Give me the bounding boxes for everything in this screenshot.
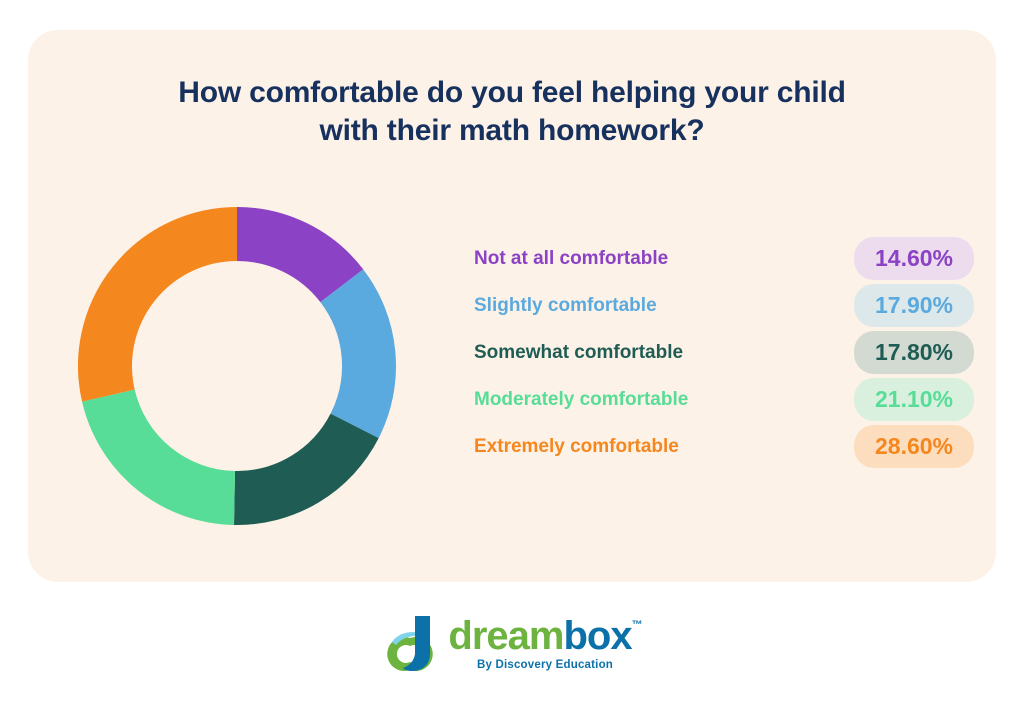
title-line-1: How comfortable do you feel helping your… — [178, 76, 846, 109]
legend-label: Extremely comfortable — [474, 436, 679, 458]
legend-value-badge: 17.80% — [854, 331, 974, 374]
logo-tagline: By Discovery Education — [477, 659, 613, 671]
dreambox-d-mark-icon — [382, 612, 442, 674]
page-title: How comfortable do you feel helping your… — [28, 74, 996, 151]
donut-segment[interactable] — [105, 234, 237, 396]
legend-label: Not at all comfortable — [474, 248, 668, 270]
title-line-2: with their math homework? — [319, 114, 704, 147]
legend-item-not-at-all-comfortable[interactable]: Not at all comfortable 14.60% — [474, 235, 974, 282]
legend-item-somewhat-comfortable[interactable]: Somewhat comfortable 17.80% — [474, 329, 974, 376]
legend-value-badge: 17.90% — [854, 284, 974, 327]
legend-item-extremely-comfortable[interactable]: Extremely comfortable 28.60% — [474, 423, 974, 470]
donut-segment[interactable] — [108, 396, 234, 498]
legend-value-badge: 14.60% — [854, 237, 974, 280]
legend: Not at all comfortable 14.60% Slightly c… — [474, 235, 974, 470]
donut-chart-svg — [78, 207, 396, 525]
legend-value-badge: 28.60% — [854, 425, 974, 468]
chart-card: How comfortable do you feel helping your… — [28, 30, 996, 582]
legend-value-badge: 21.10% — [854, 378, 974, 421]
logo-word-box: box — [563, 616, 631, 656]
legend-label: Somewhat comfortable — [474, 342, 683, 364]
logo-word-dream: dream — [448, 616, 563, 656]
logo-word: dreambox™ — [448, 616, 641, 656]
donut-chart — [78, 207, 396, 525]
logo-trademark-icon: ™ — [632, 620, 642, 631]
legend-label: Moderately comfortable — [474, 389, 688, 411]
dreambox-wordmark: dreambox™ By Discovery Education — [448, 616, 641, 671]
donut-segment[interactable] — [235, 426, 355, 498]
donut-segment[interactable] — [237, 234, 342, 286]
footer-logo: dreambox™ By Discovery Education — [0, 612, 1024, 674]
legend-label: Slightly comfortable — [474, 295, 657, 317]
dreambox-logo: dreambox™ By Discovery Education — [382, 612, 641, 674]
donut-segment[interactable] — [342, 286, 369, 426]
legend-item-slightly-comfortable[interactable]: Slightly comfortable 17.90% — [474, 282, 974, 329]
legend-item-moderately-comfortable[interactable]: Moderately comfortable 21.10% — [474, 376, 974, 423]
